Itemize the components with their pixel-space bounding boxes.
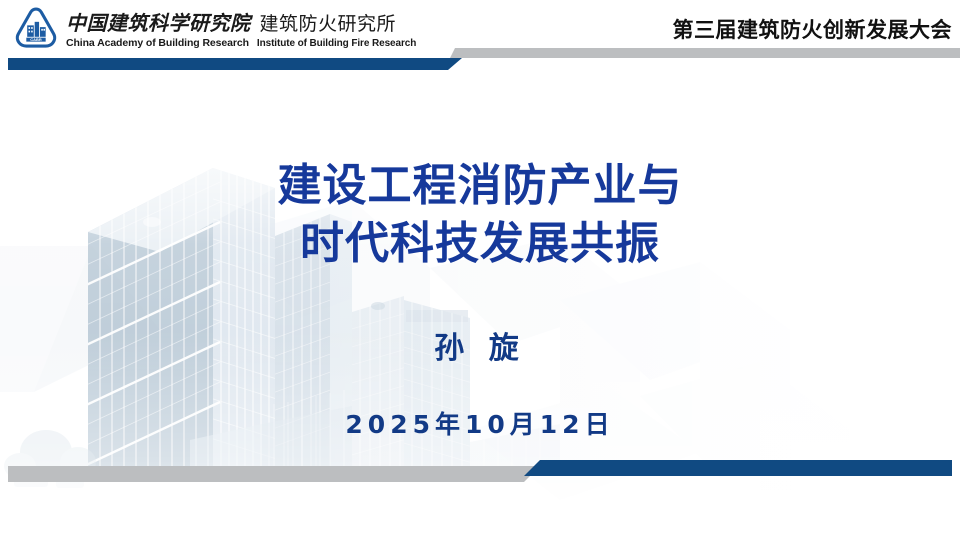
header-divider-gray [450, 48, 960, 58]
footer-divider-gray [8, 466, 540, 482]
header-divider-bar [0, 0, 960, 72]
footer-divider-blue [524, 460, 952, 476]
footer-divider-bar [0, 442, 960, 502]
header-divider-blue [8, 58, 462, 70]
slide-header: CABR 中国建筑科学研究院 建筑防火研究所 China Academy of … [0, 0, 960, 72]
presentation-slide: CABR 中国建筑科学研究院 建筑防火研究所 China Academy of … [0, 0, 960, 540]
